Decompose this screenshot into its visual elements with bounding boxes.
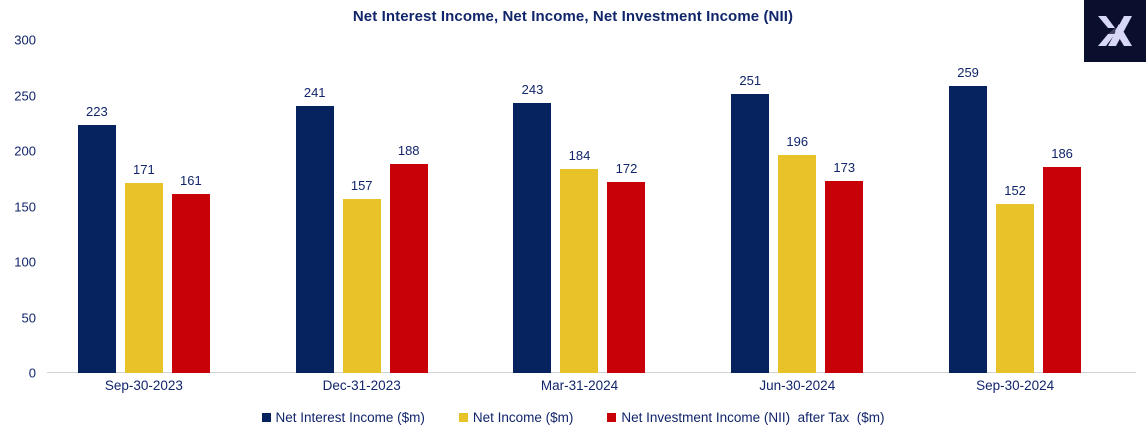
y-axis-tick-label: 50 (22, 310, 36, 325)
bar-value-label: 173 (833, 160, 855, 175)
bar-group: 243184172 (483, 40, 701, 373)
bar[interactable]: 184 (560, 169, 598, 373)
bar[interactable]: 243 (513, 103, 551, 373)
bar-value-label: 171 (133, 162, 155, 177)
bar-chart: Net Interest Income, Net Income, Net Inv… (0, 0, 1146, 440)
bar-value-label: 259 (957, 65, 979, 80)
bar-value-label: 186 (1051, 146, 1073, 161)
bar[interactable]: 188 (390, 164, 428, 373)
x-axis-tick-label: Sep-30-2024 (976, 378, 1054, 393)
legend-item[interactable]: Net Interest Income ($m) (262, 410, 425, 425)
y-axis-tick-label: 250 (14, 88, 36, 103)
legend-label: Net Investment Income (NII) after Tax ($… (621, 410, 884, 425)
bar[interactable]: 172 (607, 182, 645, 373)
bar-group: 223171161 (47, 40, 265, 373)
bar-group: 259152186 (918, 40, 1136, 373)
legend-label: Net Interest Income ($m) (276, 410, 425, 425)
y-axis-tick-label: 0 (29, 366, 36, 381)
bar[interactable]: 157 (343, 199, 381, 373)
bar-value-label: 243 (522, 82, 544, 97)
y-axis: 050100150200250300 (0, 40, 42, 373)
y-axis-tick-label: 100 (14, 255, 36, 270)
bar[interactable]: 223 (78, 125, 116, 373)
plot-area: 2231711612411571882431841722511961732591… (47, 40, 1136, 373)
bar-group: 251196173 (700, 40, 918, 373)
y-axis-tick-label: 200 (14, 144, 36, 159)
bar-value-label: 152 (1004, 183, 1026, 198)
bar[interactable]: 161 (172, 194, 210, 373)
bar-value-label: 251 (739, 73, 761, 88)
legend-item[interactable]: Net Income ($m) (459, 410, 574, 425)
bar-value-label: 157 (351, 178, 373, 193)
x-axis: Sep-30-2023Dec-31-2023Mar-31-2024Jun-30-… (47, 378, 1136, 400)
y-axis-tick-label: 150 (14, 199, 36, 214)
bar[interactable]: 241 (296, 106, 334, 374)
bar[interactable]: 173 (825, 181, 863, 373)
bar-group: 241157188 (265, 40, 483, 373)
legend-color-swatch (262, 413, 271, 422)
legend-color-swatch (459, 413, 468, 422)
x-axis-tick-label: Sep-30-2023 (105, 378, 183, 393)
legend-color-swatch (607, 413, 616, 422)
bar-value-label: 184 (569, 148, 591, 163)
chart-title: Net Interest Income, Net Income, Net Inv… (0, 8, 1146, 25)
bar[interactable]: 186 (1043, 167, 1081, 373)
legend-label: Net Income ($m) (473, 410, 574, 425)
bar[interactable]: 171 (125, 183, 163, 373)
bar[interactable]: 152 (996, 204, 1034, 373)
bar[interactable]: 259 (949, 86, 987, 373)
legend-item[interactable]: Net Investment Income (NII) after Tax ($… (607, 410, 884, 425)
x-axis-tick-label: Dec-31-2023 (323, 378, 401, 393)
chart-legend: Net Interest Income ($m)Net Income ($m)N… (0, 410, 1146, 425)
bar-value-label: 223 (86, 104, 108, 119)
bar-value-label: 188 (398, 143, 420, 158)
y-axis-tick-label: 300 (14, 33, 36, 48)
bar-value-label: 241 (304, 85, 326, 100)
bar-value-label: 172 (616, 161, 638, 176)
bar[interactable]: 196 (778, 155, 816, 373)
x-axis-tick-label: Jun-30-2024 (759, 378, 835, 393)
bar-value-label: 196 (786, 134, 808, 149)
bar-value-label: 161 (180, 173, 202, 188)
x-axis-tick-label: Mar-31-2024 (541, 378, 618, 393)
bar[interactable]: 251 (731, 94, 769, 373)
